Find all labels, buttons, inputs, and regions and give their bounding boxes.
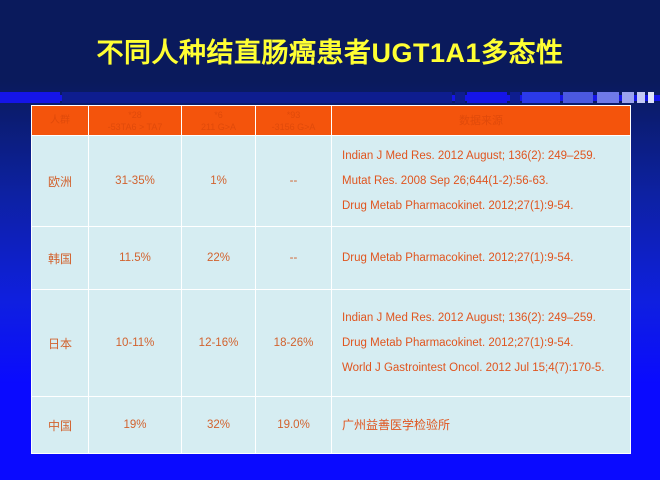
column-header-source: 数据来源: [332, 106, 631, 136]
polymorphism-table: 人群 *28 -53TA6 > TA7 *6 211 G>A *93 -3156…: [31, 105, 631, 454]
column-header-star93: *93 -3156 G>A: [256, 106, 332, 136]
table-row: 中国 19% 32% 19.0% 广州益善医学检验所: [32, 397, 631, 454]
column-header-star6-sub: 211 G>A: [182, 121, 255, 133]
cell-population: 中国: [32, 397, 89, 454]
band-block: [522, 92, 560, 103]
table-body: 欧洲 31-35% 1% -- Indian J Med Res. 2012 A…: [32, 136, 631, 454]
polymorphism-table-container: 人群 *28 -53TA6 > TA7 *6 211 G>A *93 -3156…: [31, 105, 630, 454]
column-header-source-label: 数据来源: [459, 115, 503, 127]
reference-item: Mutat Res. 2008 Sep 26;644(1-2):56-63.: [342, 169, 630, 194]
cell-star28: 10-11%: [89, 290, 182, 397]
cell-star93: --: [256, 227, 332, 290]
cell-star6: 12-16%: [182, 290, 256, 397]
column-header-star6-label: *6: [214, 110, 223, 120]
cell-star93: --: [256, 136, 332, 227]
cell-star28: 11.5%: [89, 227, 182, 290]
reference-item: Drug Metab Pharmacokinet. 2012;27(1):9-5…: [342, 246, 630, 271]
column-header-star6: *6 211 G>A: [182, 106, 256, 136]
cell-source: Drug Metab Pharmacokinet. 2012;27(1):9-5…: [332, 227, 631, 290]
table-header: 人群 *28 -53TA6 > TA7 *6 211 G>A *93 -3156…: [32, 106, 631, 136]
column-header-star28-label: *28: [128, 110, 142, 120]
page-title: 不同人种结直肠癌患者UGT1A1多态性: [96, 36, 563, 70]
reference-item: Drug Metab Pharmacokinet. 2012;27(1):9-5…: [342, 194, 630, 219]
band-block: [467, 92, 507, 103]
cell-star6: 22%: [182, 227, 256, 290]
band-block: [597, 92, 619, 103]
blue-block-band: [0, 92, 660, 103]
band-block: [455, 92, 465, 103]
slide-canvas: 不同人种结直肠癌患者UGT1A1多态性 人群 *28 -53TA: [0, 0, 660, 480]
table-row: 日本 10-11% 12-16% 18-26% Indian J Med Res…: [32, 290, 631, 397]
band-block: [0, 92, 60, 103]
column-header-population-label: 人群: [50, 115, 70, 126]
band-block: [62, 92, 452, 103]
cell-population: 欧洲: [32, 136, 89, 227]
cell-population: 韩国: [32, 227, 89, 290]
band-block: [563, 92, 593, 103]
band-block: [637, 92, 645, 103]
cell-population: 日本: [32, 290, 89, 397]
title-area: 不同人种结直肠癌患者UGT1A1多态性: [0, 36, 660, 70]
band-block: [622, 92, 634, 103]
band-block: [648, 92, 654, 103]
reference-item: World J Gastrointest Oncol. 2012 Jul 15;…: [342, 356, 630, 381]
cell-star28: 31-35%: [89, 136, 182, 227]
table-row: 韩国 11.5% 22% -- Drug Metab Pharmacokinet…: [32, 227, 631, 290]
reference-item: 广州益善医学检验所: [342, 415, 630, 435]
table-row: 欧洲 31-35% 1% -- Indian J Med Res. 2012 A…: [32, 136, 631, 227]
cell-star28: 19%: [89, 397, 182, 454]
column-header-star28: *28 -53TA6 > TA7: [89, 106, 182, 136]
cell-star93: 19.0%: [256, 397, 332, 454]
column-header-star28-sub: -53TA6 > TA7: [89, 121, 181, 133]
cell-star6: 1%: [182, 136, 256, 227]
cell-star93: 18-26%: [256, 290, 332, 397]
column-header-population: 人群: [32, 106, 89, 136]
cell-star6: 32%: [182, 397, 256, 454]
column-header-star93-sub: -3156 G>A: [256, 121, 331, 133]
cell-source: Indian J Med Res. 2012 August; 136(2): 2…: [332, 290, 631, 397]
cell-source: Indian J Med Res. 2012 August; 136(2): 2…: [332, 136, 631, 227]
header-row: 人群 *28 -53TA6 > TA7 *6 211 G>A *93 -3156…: [32, 106, 631, 136]
reference-item: Drug Metab Pharmacokinet. 2012;27(1):9-5…: [342, 331, 630, 356]
band-block: [510, 92, 520, 103]
column-header-star93-label: *93: [287, 110, 301, 120]
cell-source: 广州益善医学检验所: [332, 397, 631, 454]
reference-item: Indian J Med Res. 2012 August; 136(2): 2…: [342, 306, 630, 331]
reference-item: Indian J Med Res. 2012 August; 136(2): 2…: [342, 144, 630, 169]
